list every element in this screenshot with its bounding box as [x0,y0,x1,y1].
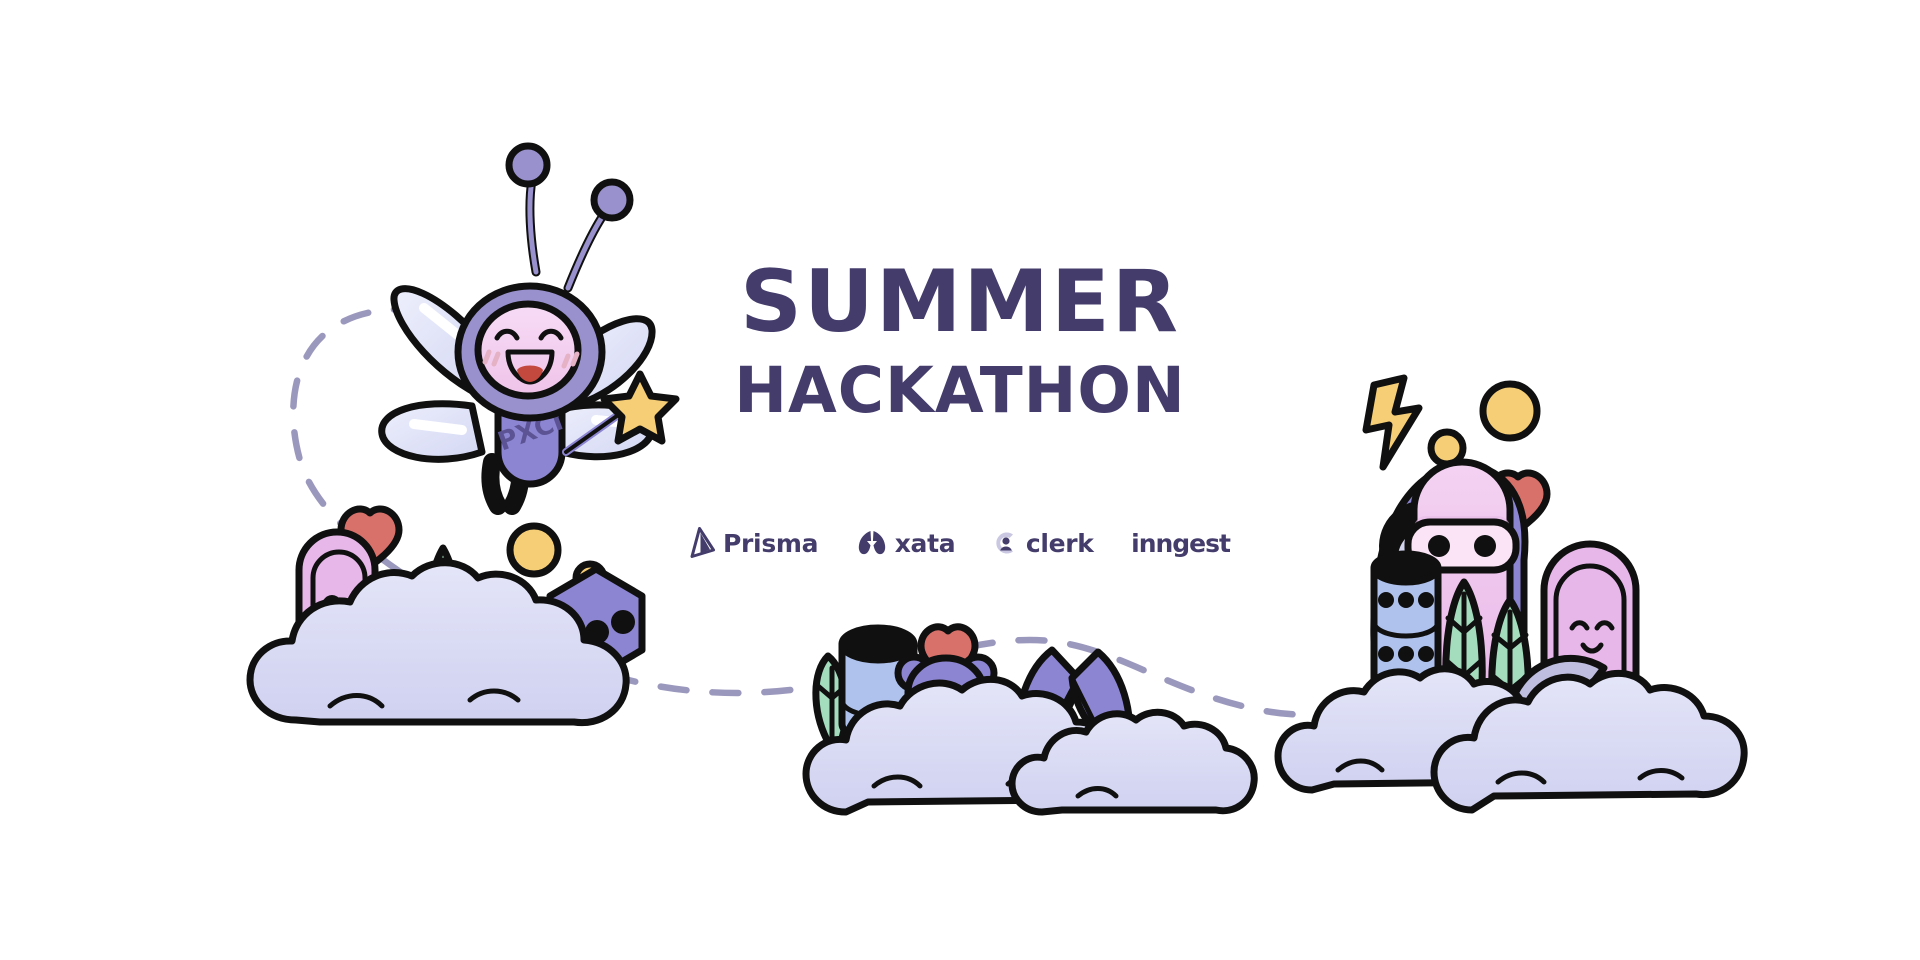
sponsor-label: clerk [1026,531,1094,556]
sponsor-logo-row: Prisma xata clerk inngest [690,527,1230,559]
sponsor-xata[interactable]: xata [856,528,956,558]
mascot-antennae [509,146,630,288]
sponsor-prisma[interactable]: Prisma [690,527,818,559]
sponsor-inngest[interactable]: inngest [1131,531,1230,556]
right-cluster [1278,378,1744,810]
xata-butterfly-icon [856,528,888,558]
yellow-dot-large [1483,384,1537,438]
center-cluster [806,627,1254,812]
lightning-bolt-icon [1366,378,1419,467]
fairy-bug-mascot: PXCI [382,146,676,506]
yellow-dot-large [510,526,558,574]
illustration-canvas: .ink { stroke:#101010; stroke-width:7; s… [0,0,1920,960]
clerk-person-icon [993,530,1019,556]
sponsor-label: xata [895,531,956,556]
mascot-head [458,286,602,418]
prisma-logo-icon [690,527,716,559]
sponsor-label: inngest [1131,531,1230,556]
sponsor-clerk[interactable]: clerk [993,530,1094,556]
left-cluster [250,509,642,723]
sponsor-label: Prisma [723,531,818,556]
hackathon-banner: .ink { stroke:#101010; stroke-width:7; s… [0,0,1920,960]
